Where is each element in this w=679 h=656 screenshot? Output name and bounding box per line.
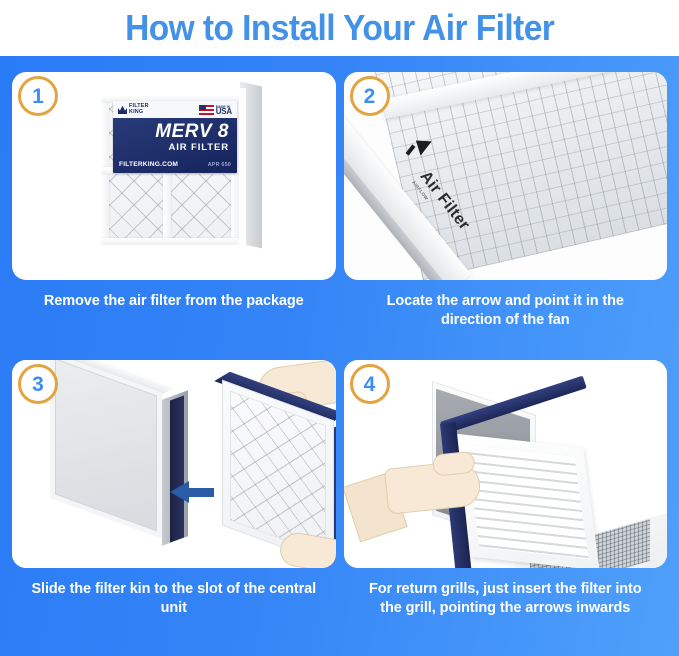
crown-icon — [118, 105, 127, 114]
direction-arrow-icon — [170, 481, 189, 503]
central-unit-slot — [170, 395, 184, 542]
page-title: How to Install Your Air Filter — [125, 8, 554, 48]
step-4-caption: For return grills, just insert the filte… — [344, 580, 668, 618]
air-filter-corner-arrow-photo: Air Filter AIRFLOW — [344, 72, 668, 280]
label-header-strip: FILTER KING MADE IN USA — [113, 101, 237, 118]
country-label: USA — [216, 110, 232, 115]
step-2-badge: 2 — [350, 76, 390, 116]
filter-mesh-pattern — [230, 391, 326, 556]
merv-rating: MERV 8 — [113, 121, 229, 143]
step-3-badge: 3 — [18, 364, 58, 404]
central-unit-face — [50, 360, 162, 538]
step-1-badge: 1 — [18, 76, 58, 116]
made-in-usa-text: MADE IN USA — [216, 105, 232, 114]
product-label: FILTER KING MADE IN USA — [113, 101, 237, 173]
filter-front-face: FILTER KING MADE IN USA — [94, 88, 246, 252]
step-1-card: 1 — [12, 72, 336, 280]
boxed-merv8-air-filter-photo: FILTER KING MADE IN USA — [94, 80, 262, 252]
title-band: How to Install Your Air Filter — [0, 0, 679, 56]
step-3-card: 3 — [12, 360, 336, 568]
step-2-card: 2 Air Filter AIRFLOW — [344, 72, 668, 280]
product-type: AIR FILTER — [113, 142, 229, 153]
sliding-filter-into-central-unit-illustration — [12, 360, 336, 568]
step-2-caption: Locate the arrow and point it in the dir… — [344, 292, 668, 330]
brand-line-2: KING — [129, 110, 149, 116]
step-1-caption: Remove the air filter from the package — [12, 292, 336, 311]
steps-grid: 1 — [0, 56, 679, 656]
made-in-usa-badge: MADE IN USA — [199, 105, 232, 115]
step-4-card: 4 — [344, 360, 668, 568]
step-2: 2 Air Filter AIRFLOW Locate the arrow an… — [344, 72, 668, 360]
infographic-page: How to Install Your Air Filter 1 — [0, 0, 679, 656]
inserting-filter-into-return-grill-illustration — [344, 360, 668, 568]
apr-rating: APR 650 — [208, 162, 231, 168]
step-3: 3 Slide the filter ki — [12, 360, 336, 648]
step-1: 1 — [12, 72, 336, 360]
return-grill-door — [454, 433, 599, 568]
filter-king-logo: FILTER KING — [118, 104, 149, 115]
direction-arrow-shaft — [188, 488, 214, 497]
label-footer: FILTERKING.COM APR 650 — [119, 161, 231, 168]
brand-website: FILTERKING.COM — [119, 161, 178, 168]
us-flag-icon — [199, 105, 214, 115]
filter-rib — [101, 238, 239, 245]
grill-slats — [465, 445, 588, 559]
brand-wordmark: FILTER KING — [129, 104, 149, 115]
step-3-caption: Slide the filter kin to the slot of the … — [12, 580, 336, 618]
step-4: 4 For return grills, just insert the fil… — [344, 360, 668, 648]
step-4-badge: 4 — [350, 364, 390, 404]
